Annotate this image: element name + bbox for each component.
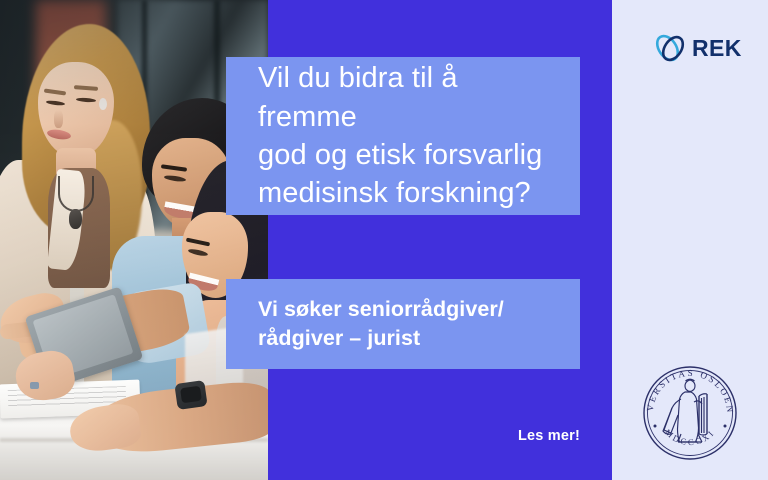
read-more-link[interactable]: Les mer! <box>0 428 580 444</box>
position-text: Vi søker seniorrådgiver/ rådgiver – juri… <box>226 295 526 352</box>
uio-seal-apollo-figure <box>663 379 707 442</box>
headline-box: Vil du bidra til å fremme god og etisk f… <box>226 57 580 215</box>
headline-text: Vil du bidra til å fremme god og etisk f… <box>226 59 580 212</box>
rek-recruitment-banner: Vil du bidra til å fremme god og etisk f… <box>0 0 768 480</box>
rek-logo[interactable]: REK <box>650 26 740 70</box>
uio-seal-logo[interactable]: UNIVERSITAS OSLOENSIS MDCCCXI <box>637 360 743 466</box>
rek-wordmark: REK <box>692 37 742 60</box>
uio-seal-dot-left <box>654 425 657 428</box>
rek-interlocking-ovals-icon <box>650 28 690 68</box>
uio-seal-dot-right <box>724 425 727 428</box>
uio-seal-year: MDCCCXI <box>663 427 717 447</box>
position-box: Vi søker seniorrådgiver/ rådgiver – juri… <box>226 279 580 369</box>
